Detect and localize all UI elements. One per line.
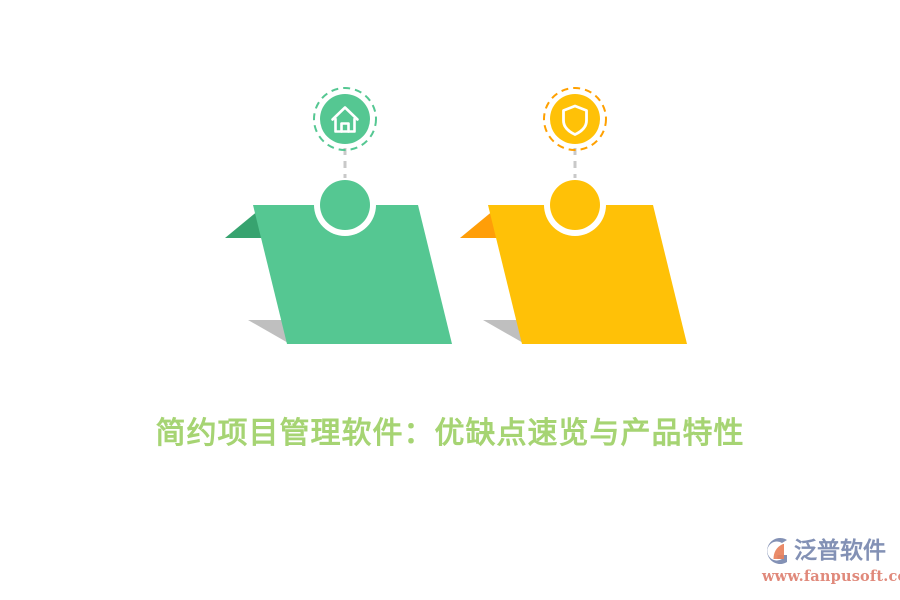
brand-logo[interactable]: 泛普软件 www.fanpusoft.com xyxy=(760,534,892,592)
brand-logo-row: 泛普软件 xyxy=(760,534,886,568)
fanpu-logo-icon xyxy=(760,535,792,567)
panel-yellow-icon-disc xyxy=(550,94,600,144)
infographic-graphic xyxy=(0,0,900,400)
page-title: 简约项目管理软件：优缺点速览与产品特性 xyxy=(0,412,900,456)
infographic-page: 简约项目管理软件：优缺点速览与产品特性 泛普软件 www.fanpusoft.c… xyxy=(0,0,900,600)
brand-name: 泛普软件 xyxy=(794,536,886,566)
panel-green-knob xyxy=(320,180,370,230)
brand-url[interactable]: www.fanpusoft.com xyxy=(762,568,900,585)
panel-green-icon-disc xyxy=(320,94,370,144)
panel-yellow-knob xyxy=(550,180,600,230)
panel-green[interactable] xyxy=(225,88,452,344)
panel-yellow[interactable] xyxy=(460,88,687,344)
